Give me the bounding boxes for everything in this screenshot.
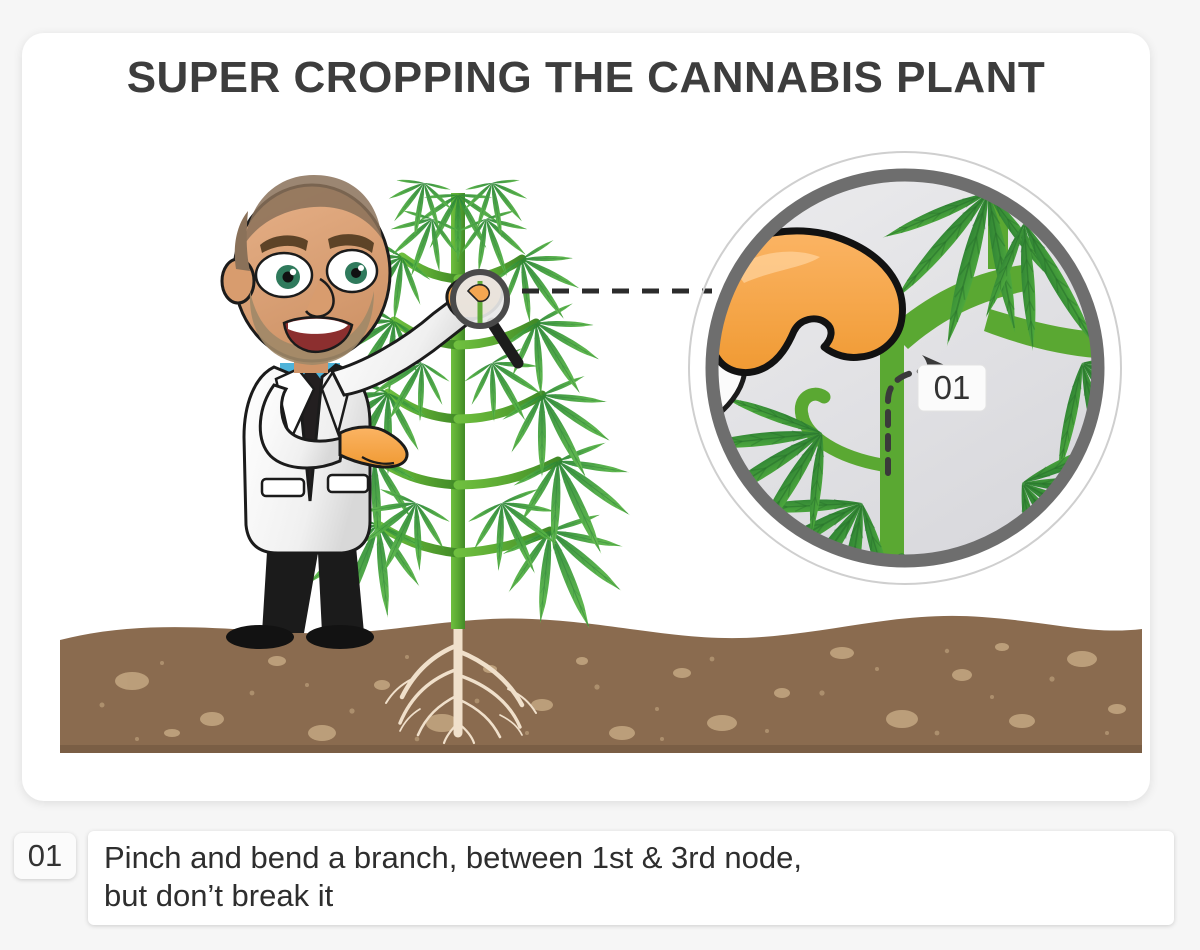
caption-step-number: 01 <box>14 833 76 879</box>
caption-text-box: Pinch and bend a branch, between 1st & 3… <box>88 831 1174 925</box>
caption-row: 01 Pinch and bend a branch, between 1st … <box>14 831 1174 913</box>
illustration-artwork: 01 <box>22 33 1150 801</box>
detail-step-badge-label: 01 <box>934 369 971 406</box>
page-background: SUPER CROPPING THE CANNABIS PLANT <box>0 0 1200 950</box>
detail-step-badge: 01 <box>918 365 986 411</box>
illustration-card: SUPER CROPPING THE CANNABIS PLANT <box>22 33 1150 801</box>
caption-line-1: Pinch and bend a branch, between 1st & 3… <box>104 839 1158 877</box>
soil-bed <box>60 616 1142 753</box>
caption-line-2: but don’t break it <box>104 877 1158 915</box>
